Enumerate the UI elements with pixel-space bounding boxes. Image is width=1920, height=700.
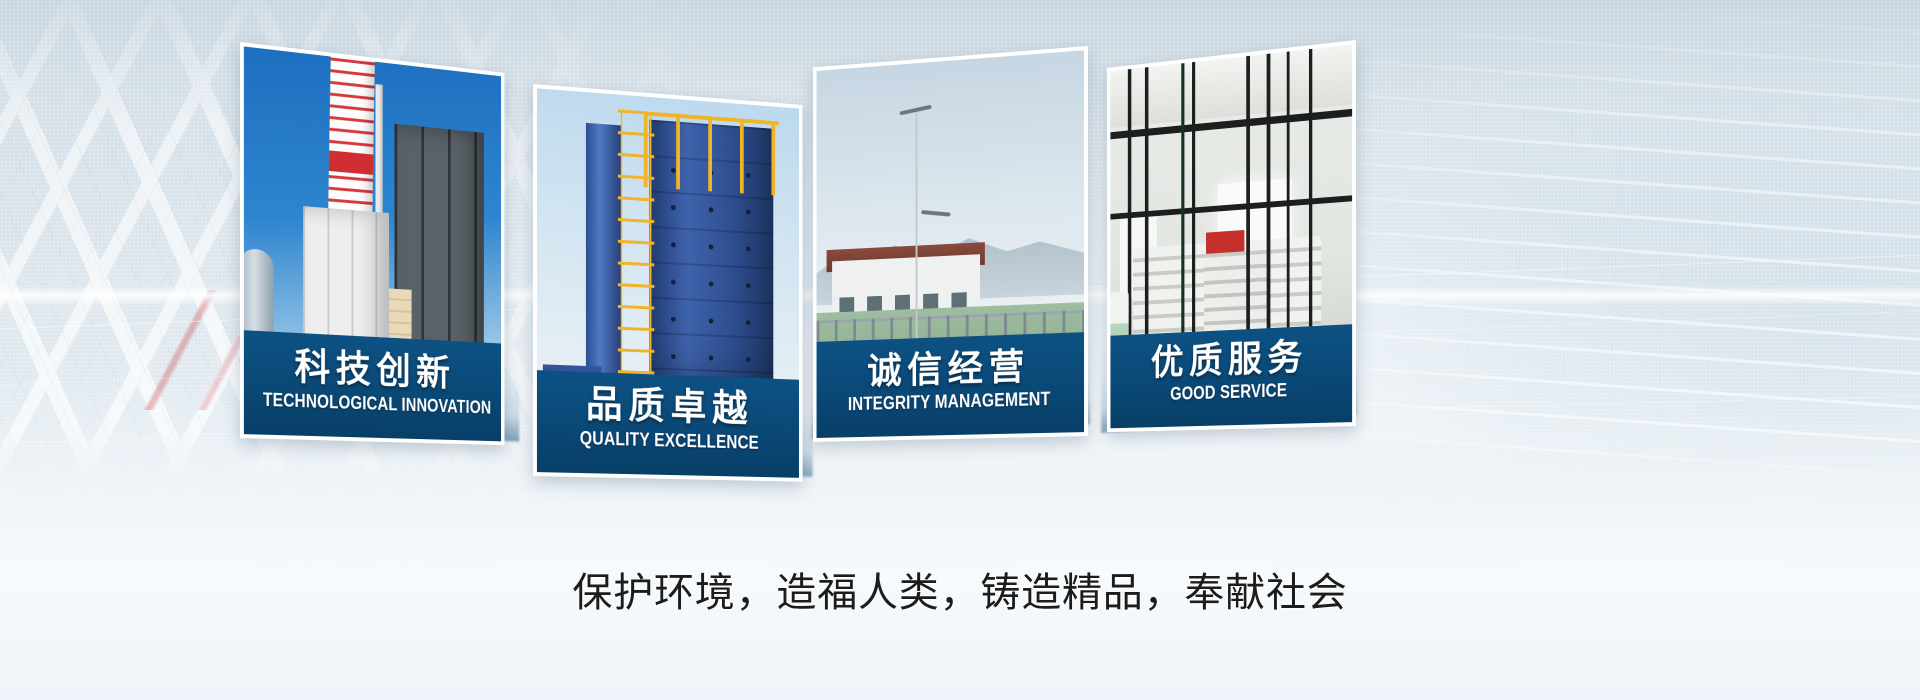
banner-stage: 科技创新 TECHNOLOGICAL INNOVATION xyxy=(0,0,1920,700)
panel-quality-excellence[interactable]: 品质卓越 QUALITY EXCELLENCE xyxy=(533,84,803,482)
panel-title-en-1: TECHNOLOGICAL INNOVATION xyxy=(263,391,484,419)
panel-title-en-3: INTEGRITY MANAGEMENT xyxy=(835,390,1065,417)
panel-inner-4: 优质服务 GOOD SERVICE xyxy=(1110,44,1352,428)
panel-inner-1: 科技创新 TECHNOLOGICAL INNOVATION xyxy=(244,46,501,441)
panel-technological-innovation[interactable]: 科技创新 TECHNOLOGICAL INNOVATION xyxy=(240,42,505,445)
panel-good-service[interactable]: 优质服务 GOOD SERVICE xyxy=(1107,40,1356,432)
panel-title-en-2: QUALITY EXCELLENCE xyxy=(556,429,781,456)
panel-title-cn-3: 诚信经营 xyxy=(817,346,1084,393)
panel-inner-3: 诚信经营 INTEGRITY MANAGEMENT xyxy=(817,50,1084,438)
panel-title-en-4: GOOD SERVICE xyxy=(1126,380,1334,407)
panel-integrity-management[interactable]: 诚信经营 INTEGRITY MANAGEMENT xyxy=(813,46,1088,442)
banner-tagline: 保护环境，造福人类，铸造精品，奉献社会 xyxy=(0,560,1920,618)
panel-title-cn-2: 品质卓越 xyxy=(537,384,799,431)
panel-title-cn-1: 科技创新 xyxy=(244,346,501,396)
panel-caption-3: 诚信经营 INTEGRITY MANAGEMENT xyxy=(817,332,1084,438)
panel-caption-1: 科技创新 TECHNOLOGICAL INNOVATION xyxy=(244,330,501,441)
panel-inner-2: 品质卓越 QUALITY EXCELLENCE xyxy=(537,88,799,478)
panel-caption-2: 品质卓越 QUALITY EXCELLENCE xyxy=(537,370,799,478)
panel-caption-4: 优质服务 GOOD SERVICE xyxy=(1110,324,1352,428)
panel-title-cn-4: 优质服务 xyxy=(1110,336,1352,384)
